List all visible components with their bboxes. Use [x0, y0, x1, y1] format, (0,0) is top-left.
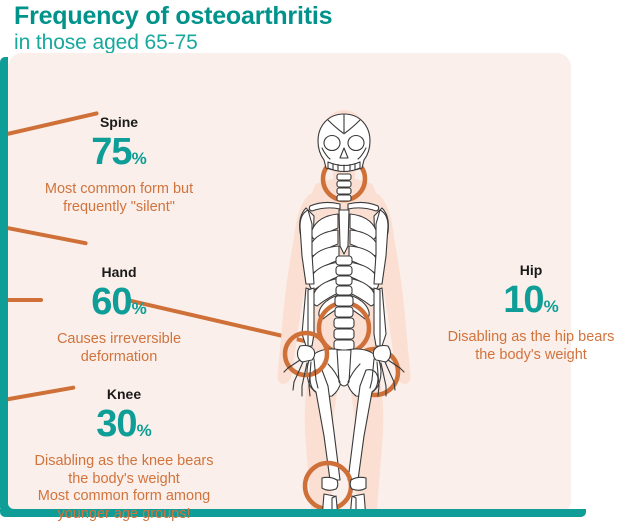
stat-desc-hip: Disabling as the hip bears the body's we… [436, 329, 626, 364]
sternum [339, 210, 349, 254]
stat-desc-line: Causes irreversible [24, 331, 214, 349]
stat-desc-knee: Disabling as the knee bears the body's w… [14, 453, 234, 523]
page-title: Frequency of osteoarthritis in those age… [14, 2, 514, 56]
card-border-left [0, 57, 8, 512]
stat-label-spine: Spine [24, 114, 214, 131]
cervical-spine [337, 174, 351, 201]
stat-value-hand: 60% [24, 282, 214, 329]
stat-unit-hip: % [544, 297, 559, 316]
stat-desc-line: the body's weight [14, 471, 234, 489]
title-main: Frequency of osteoarthritis [14, 2, 514, 30]
stat-number-hip: 10 [503, 279, 543, 321]
stat-block-spine: Spine 75% Most common form but frequentl… [24, 114, 214, 216]
stat-number-spine: 75 [91, 131, 131, 173]
stat-desc-line: deformation [24, 349, 214, 367]
stat-value-hip: 10% [436, 280, 626, 327]
stat-value-spine: 75% [24, 132, 214, 179]
stat-desc-hand: Causes irreversible deformation [24, 331, 214, 366]
stat-label-hand: Hand [24, 264, 214, 281]
stat-label-hip: Hip [436, 262, 626, 279]
stat-block-hand: Hand 60% Causes irreversible deformation [24, 264, 214, 366]
lumbar-spine [334, 256, 354, 350]
stat-desc-line: frequently "silent" [24, 199, 214, 217]
infographic-root: Frequency of osteoarthritis in those age… [0, 0, 643, 532]
skull [318, 114, 370, 172]
stat-desc-line: Disabling as the knee bears [14, 453, 234, 471]
leader-line-spine-lumbar [8, 216, 88, 245]
stat-unit-hand: % [132, 299, 147, 318]
human-skeleton-illustration: .bone{fill:#ffffff;stroke:#3A3A3A;stroke… [244, 106, 444, 515]
stat-unit-spine: % [132, 149, 147, 168]
stat-label-knee: Knee [14, 386, 234, 403]
stat-value-knee: 30% [14, 404, 234, 451]
stat-desc-spine: Most common form but frequently "silent" [24, 181, 214, 216]
stat-block-knee: Knee 30% Disabling as the knee bears the… [14, 386, 234, 523]
stat-desc-line: younger age groups! [14, 506, 234, 524]
stat-block-hip: Hip 10% Disabling as the hip bears the b… [436, 262, 626, 364]
stat-desc-line: Most common form among [14, 488, 234, 506]
stat-number-hand: 60 [91, 281, 131, 323]
stat-number-knee: 30 [96, 403, 136, 445]
knees [322, 477, 366, 490]
stat-desc-line: Most common form but [24, 181, 214, 199]
stat-unit-knee: % [137, 421, 152, 440]
stat-desc-line: Disabling as the hip bears [436, 329, 626, 347]
stat-desc-line: the body's weight [436, 347, 626, 365]
